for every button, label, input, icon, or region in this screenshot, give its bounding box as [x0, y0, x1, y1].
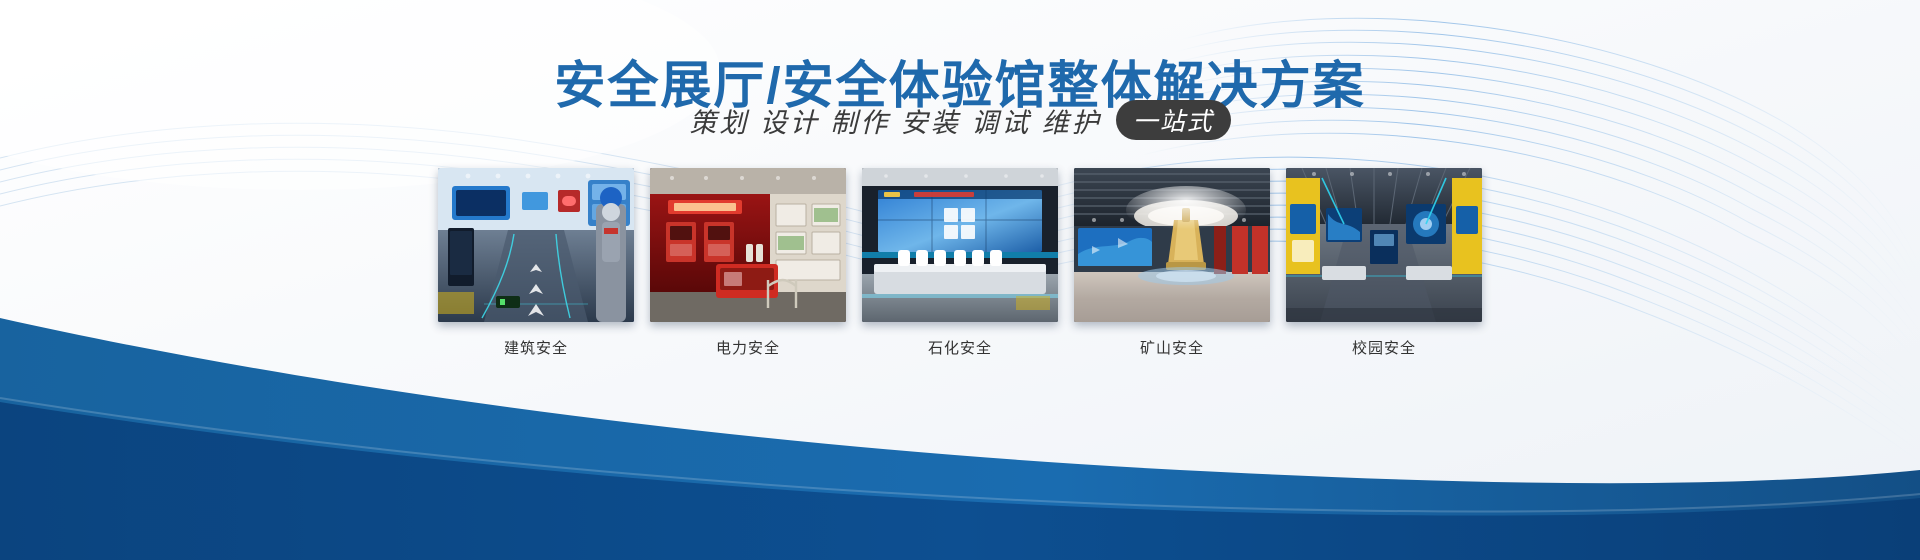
gallery-card[interactable]: 石化安全	[862, 168, 1058, 358]
gallery-card-caption: 石化安全	[928, 337, 992, 358]
one-stop-badge: 一站式	[1116, 100, 1231, 140]
gallery-card[interactable]: 电力安全	[650, 168, 846, 358]
service-steps-text: 策划 设计 制作 安装 调试 维护	[689, 101, 1102, 140]
exhibition-hall-construction-icon[interactable]	[438, 168, 634, 322]
exhibition-hall-mining-icon[interactable]	[1074, 168, 1270, 322]
gallery-card[interactable]: 建筑安全	[438, 168, 634, 358]
gallery-card-caption: 矿山安全	[1140, 337, 1204, 358]
gallery-card-caption: 校园安全	[1352, 337, 1416, 358]
exhibition-hall-petrochemical-icon[interactable]	[862, 168, 1058, 322]
showcase-gallery: 建筑安全	[438, 168, 1482, 358]
gallery-card-caption: 建筑安全	[504, 337, 568, 358]
subtitle-container: 策划 设计 制作 安装 调试 维护 一站式	[0, 100, 1920, 140]
exhibition-hall-power-icon[interactable]	[650, 168, 846, 322]
exhibition-hall-campus-icon[interactable]	[1286, 168, 1482, 322]
gallery-card[interactable]: 校园安全	[1286, 168, 1482, 358]
promo-banner: 安全展厅/安全体验馆整体解决方案 策划 设计 制作 安装 调试 维护 一站式	[0, 0, 1920, 560]
gallery-card-caption: 电力安全	[716, 337, 780, 358]
gallery-card[interactable]: 矿山安全	[1074, 168, 1270, 358]
